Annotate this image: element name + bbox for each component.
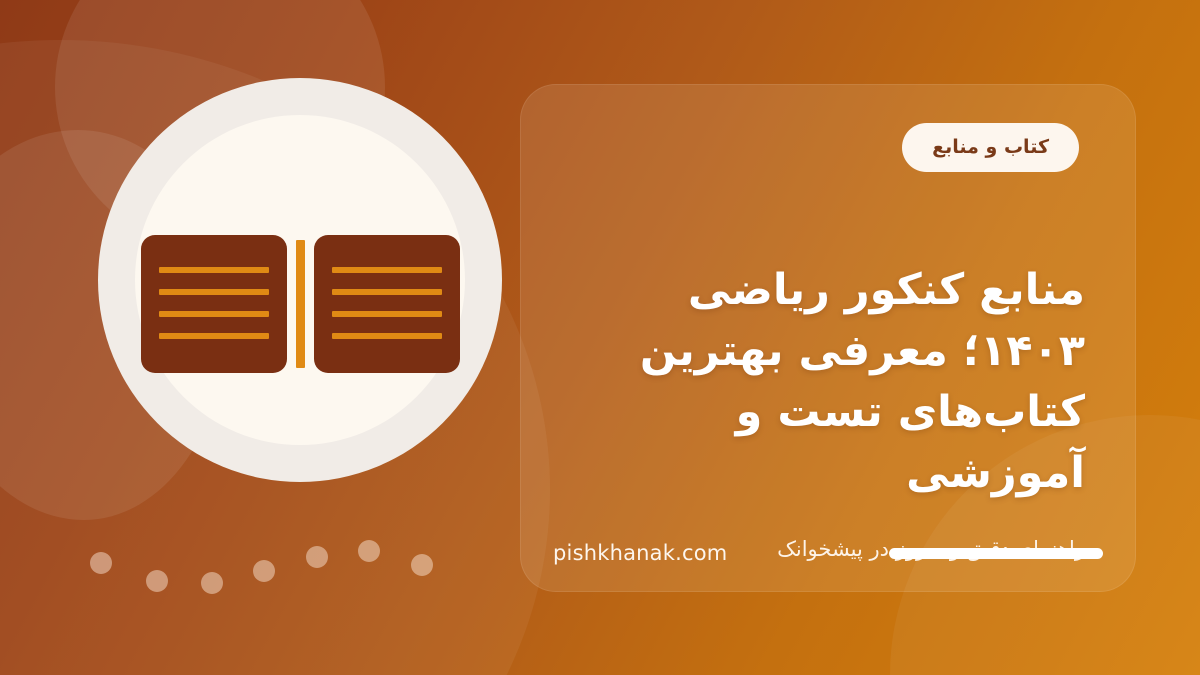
category-badge: کتاب و منابع (902, 123, 1079, 172)
page-title: منابع کنکور ریاضی ۱۴۰۳؛ معرفی بهترین کتا… (565, 260, 1085, 504)
decorative-dot (411, 554, 433, 576)
book-text-line (159, 267, 269, 273)
card-footer: pishkhanak.com (553, 541, 1103, 565)
book-spine (296, 240, 305, 368)
book-text-line (159, 289, 269, 295)
decorative-dot-row (80, 540, 440, 600)
content-card: کتاب و منابع منابع کنکور ریاضی ۱۴۰۳؛ معر… (520, 84, 1136, 592)
decorative-dot (306, 546, 328, 568)
book-text-line (159, 333, 269, 339)
book-text-line (332, 267, 442, 273)
book-text-line (332, 289, 442, 295)
medallion-inner-disc (135, 115, 465, 445)
book-page-right (141, 235, 287, 373)
book-text-line (159, 311, 269, 317)
book-page-left (314, 235, 460, 373)
site-url: pishkhanak.com (553, 541, 727, 565)
book-text-line (332, 333, 442, 339)
decorative-dot (201, 572, 223, 594)
decorative-dot (253, 560, 275, 582)
accent-bar (889, 548, 1103, 559)
decorative-dot (146, 570, 168, 592)
book-text-line (332, 311, 442, 317)
promo-banner: کتاب و منابع منابع کنکور ریاضی ۱۴۰۳؛ معر… (0, 0, 1200, 675)
decorative-dot (358, 540, 380, 562)
open-book-icon (139, 235, 461, 373)
book-medallion (98, 78, 502, 482)
decorative-dot (90, 552, 112, 574)
